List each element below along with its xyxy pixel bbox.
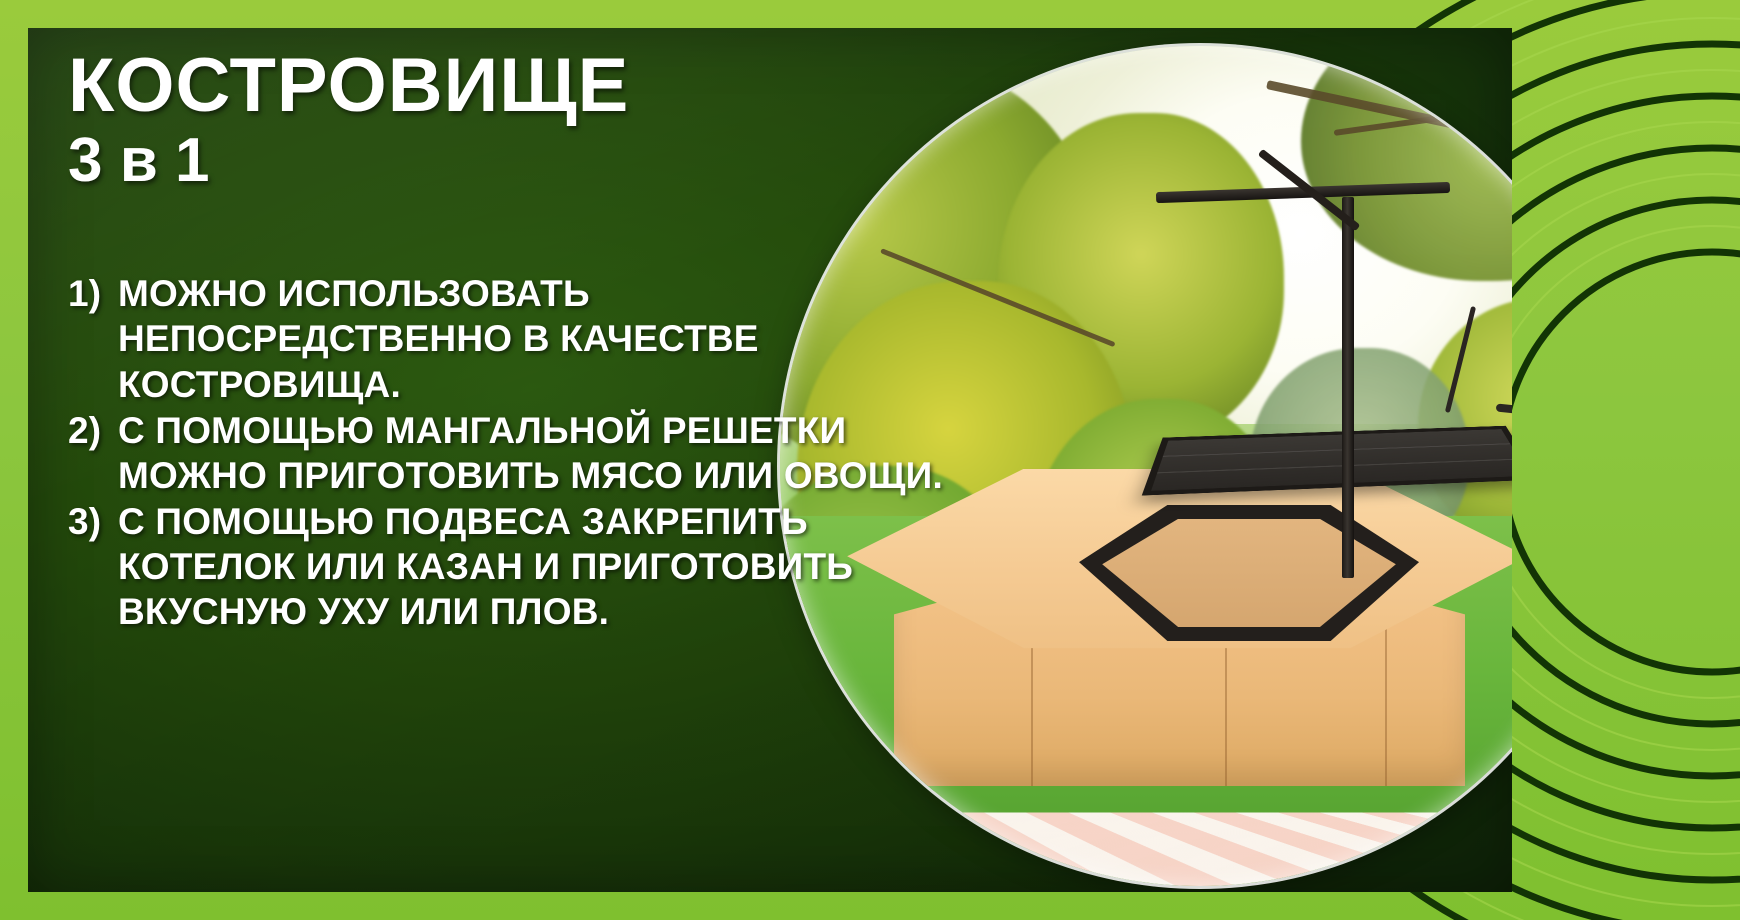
list-item: 1) МОЖНО ИСПОЛЬЗОВАТЬ НЕПОСРЕДСТВЕННО В … — [68, 271, 968, 406]
list-item-marker: 1) — [68, 271, 118, 316]
text-column: КОСТРОВИЩЕ 3 в 1 1) МОЖНО ИСПОЛЬЗОВАТЬ Н… — [68, 50, 968, 635]
list-item-text: МОЖНО ИСПОЛЬЗОВАТЬ НЕПОСРЕДСТВЕННО В КАЧ… — [118, 271, 968, 406]
list-item-text: С ПОМОЩЬЮ МАНГАЛЬНОЙ РЕШЕТКИ МОЖНО ПРИГО… — [118, 408, 968, 498]
poster: КОСТРОВИЩЕ 3 в 1 1) МОЖНО ИСПОЛЬЗОВАТЬ Н… — [0, 0, 1740, 920]
grill-grate — [1142, 426, 1512, 496]
list-item: 2) С ПОМОЩЬЮ МАНГАЛЬНОЙ РЕШЕТКИ МОЖНО ПР… — [68, 408, 968, 498]
feature-list: 1) МОЖНО ИСПОЛЬЗОВАТЬ НЕПОСРЕДСТВЕННО В … — [68, 271, 968, 634]
list-item-marker: 3) — [68, 499, 118, 544]
list-item-marker: 2) — [68, 408, 118, 453]
page-subtitle: 3 в 1 — [68, 128, 968, 193]
list-item-text: С ПОМОЩЬЮ ПОДВЕСА ЗАКРЕПИТЬ КОТЕЛОК ИЛИ … — [118, 499, 968, 634]
hanger-pole — [1342, 197, 1354, 578]
content-panel: КОСТРОВИЩЕ 3 в 1 1) МОЖНО ИСПОЛЬЗОВАТЬ Н… — [28, 28, 1512, 892]
page-title: КОСТРОВИЩЕ — [68, 50, 968, 122]
list-item: 3) С ПОМОЩЬЮ ПОДВЕСА ЗАКРЕПИТЬ КОТЕЛОК И… — [68, 499, 968, 634]
